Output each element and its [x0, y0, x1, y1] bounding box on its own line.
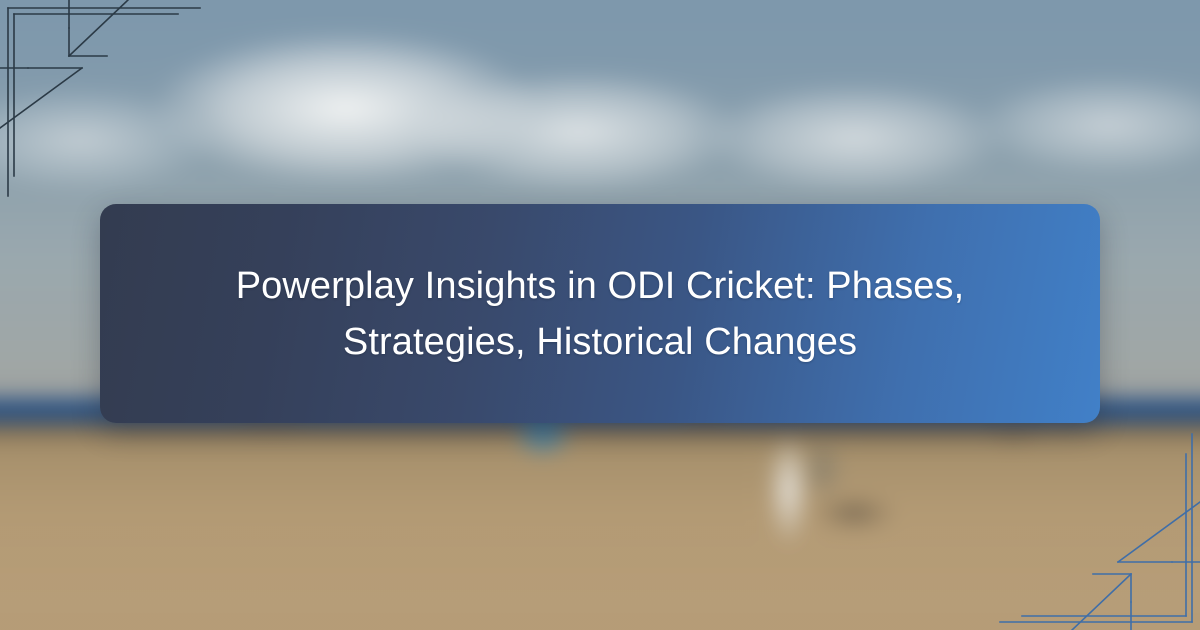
- page-title: Powerplay Insights in ODI Cricket: Phase…: [200, 258, 1000, 370]
- title-card: Powerplay Insights in ODI Cricket: Phase…: [100, 204, 1100, 423]
- banner-stage: Powerplay Insights in ODI Cricket: Phase…: [0, 0, 1200, 630]
